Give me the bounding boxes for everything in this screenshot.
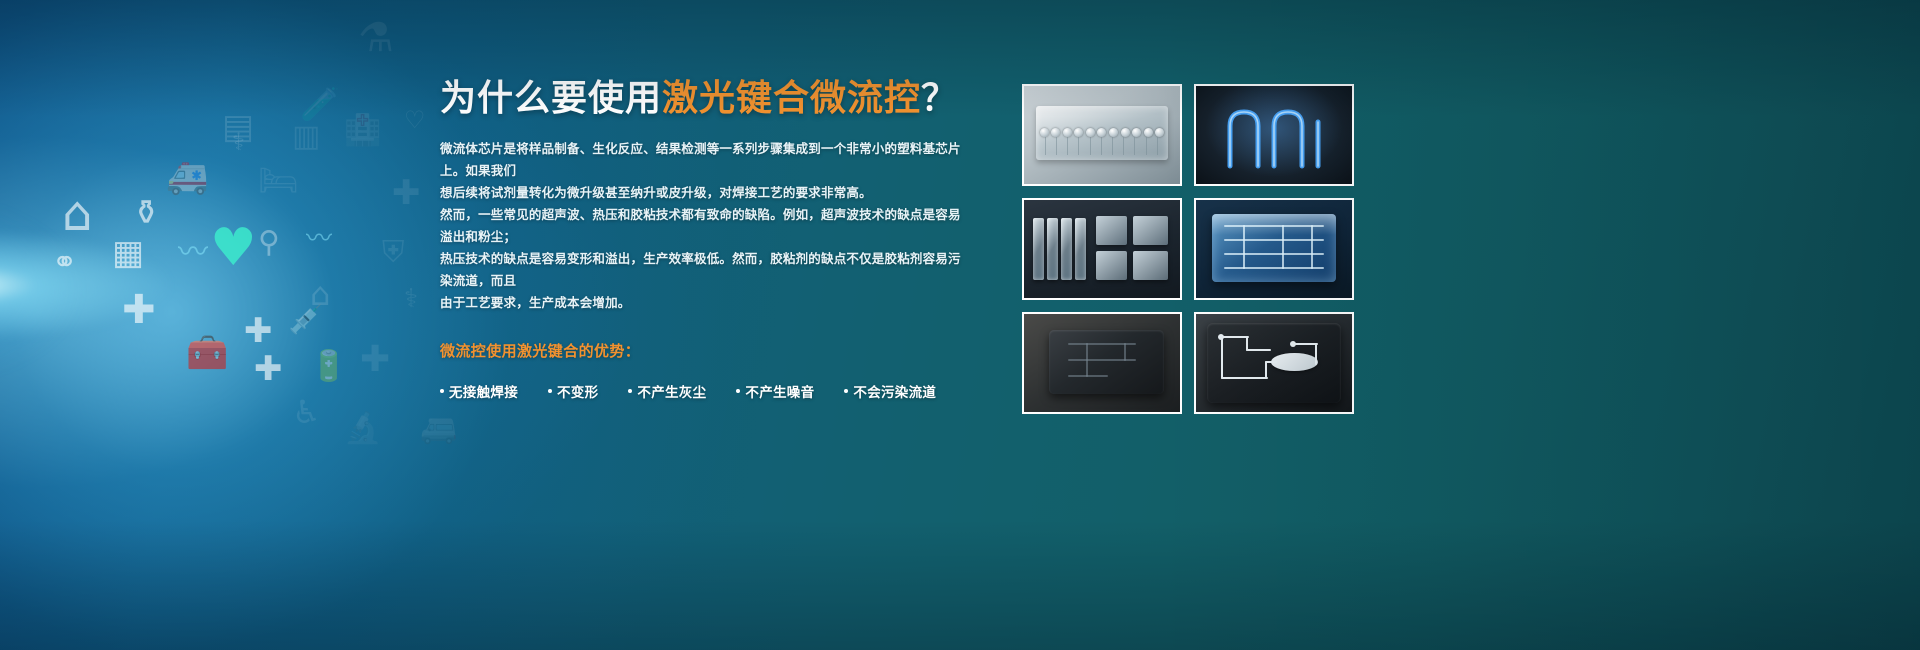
title-part-white-2: ？ — [921, 77, 958, 118]
gallery-image-clear-microfluidic-chip-with-wells[interactable] — [1022, 84, 1182, 186]
advantage-bullet-label: 不产生灰尘 — [637, 381, 706, 401]
product-image-gallery — [1022, 84, 1354, 414]
title-part-white-1: 为什么要使用 — [440, 77, 662, 118]
advantage-bullet: 不会污染流道 — [844, 381, 936, 401]
medical-decor-icon: ✚ — [254, 352, 283, 386]
bullet-dot-icon — [440, 389, 444, 393]
bullet-dot-icon — [844, 389, 848, 393]
medical-decor-icon: 🚐 — [420, 414, 457, 444]
medical-decor-icon: ⛨ — [382, 238, 405, 268]
advantage-bullet: 不变形 — [548, 381, 598, 401]
medical-decor-icon: 🧰 — [186, 336, 228, 370]
medical-decor-icon: 🚑 — [166, 160, 208, 194]
medical-decor-icon: ⚱ — [132, 196, 161, 230]
medical-decor-icon: ⚕ — [232, 130, 245, 154]
medical-decor-icon: ♡ — [404, 108, 426, 132]
medical-decor-icon: 🔋 — [310, 352, 347, 382]
medical-decor-icon: ⚕ — [404, 286, 418, 312]
paragraph-line: 由于工艺要求，生产成本会增加。 — [440, 292, 970, 314]
paragraph-line: 热压技术的缺点是容易变形和溢出，生产效率极低。然而，胶粘剂的缺点不仅是胶粘剂容易… — [440, 248, 970, 292]
body-paragraph: 微流体芯片是将样品制备、生化反应、结果检测等一系列步骤集成到一个非常小的塑料基芯… — [440, 138, 970, 314]
gallery-image-serpentine-channel-chip-blue-lit[interactable] — [1194, 84, 1354, 186]
medical-decor-icon: ✚ — [244, 314, 273, 348]
medical-decor-icon: ♿ — [292, 396, 321, 428]
advantage-bullet: 不产生灰尘 — [628, 381, 706, 401]
page-title: 为什么要使用激光键合微流控？ — [440, 78, 970, 118]
paragraph-line: 然而，一些常见的超声波、热压和胶粘技术都有致命的缺陷。例如，超声波技术的缺点是容… — [440, 204, 970, 248]
medical-decor-icon: 🔬 — [344, 414, 381, 444]
medical-decor-icon: ♥ — [210, 222, 257, 274]
medical-decor-icon: 🏥 — [344, 116, 381, 146]
medical-decor-icon: ▤ — [222, 110, 254, 144]
promo-banner: ⚗🧪▤▥🏥♡🚑⚕🛏✚⌂⚱♥⚲〰〰▦⚭⛨✚⌂💉✚🧰✚🔋✚♿🔬🚐⚕ 为什么要使用激光… — [0, 0, 1920, 650]
gallery-image-blue-transparent-microfluidic-block[interactable] — [1194, 198, 1354, 300]
medical-decor-icon: ⚲ — [258, 228, 280, 258]
light-beam-core — [0, 230, 170, 340]
medical-decor-icon: 〰 — [306, 226, 332, 252]
medical-decor-icon: ✚ — [360, 342, 390, 378]
bullet-dot-icon — [548, 389, 552, 393]
advantage-bullet-label: 无接触焊接 — [449, 381, 518, 401]
medical-decor-icon: ⌂ — [310, 278, 330, 310]
advantage-bullet-label: 不变形 — [557, 381, 598, 401]
banner-text-column: 为什么要使用激光键合微流控？ 微流体芯片是将样品制备、生化反应、结果检测等一系列… — [440, 78, 970, 401]
advantages-bullet-list: 无接触焊接不变形不产生灰尘不产生噪音不会污染流道 — [440, 381, 970, 401]
medical-decor-icon: ⚗ — [358, 18, 394, 58]
medical-decor-icon: 🛏 — [258, 164, 299, 196]
medical-decor-icon: ✚ — [392, 176, 421, 210]
paragraph-line: 想后续将试剂量转化为微升级甚至纳升或皮升级，对焊接工艺的要求非常高。 — [440, 182, 970, 204]
gallery-image-transparent-chip-array-on-dark-tray[interactable] — [1022, 198, 1182, 300]
advantages-subheading: 微流控使用激光键合的优势： — [440, 340, 970, 361]
advantage-bullet: 无接触焊接 — [440, 381, 518, 401]
advantage-bullet-label: 不会污染流道 — [853, 381, 936, 401]
title-part-orange: 激光键合微流控 — [662, 77, 921, 118]
medical-decor-icon: 🧪 — [300, 88, 340, 120]
medical-decor-icon: ▥ — [292, 122, 320, 152]
bullet-dot-icon — [628, 389, 632, 393]
paragraph-line: 微流体芯片是将样品制备、生化反应、结果检测等一系列步骤集成到一个非常小的塑料基芯… — [440, 138, 970, 182]
advantage-bullet: 不产生噪音 — [736, 381, 814, 401]
medical-decor-icon: 💉 — [288, 306, 323, 334]
gallery-image-black-chip-held-in-hand[interactable] — [1022, 312, 1182, 414]
bullet-dot-icon — [736, 389, 740, 393]
gallery-image-black-cassette-channel-network[interactable] — [1194, 312, 1354, 414]
advantage-bullet-label: 不产生噪音 — [745, 381, 814, 401]
medical-decor-icon: 〰 — [178, 238, 208, 268]
